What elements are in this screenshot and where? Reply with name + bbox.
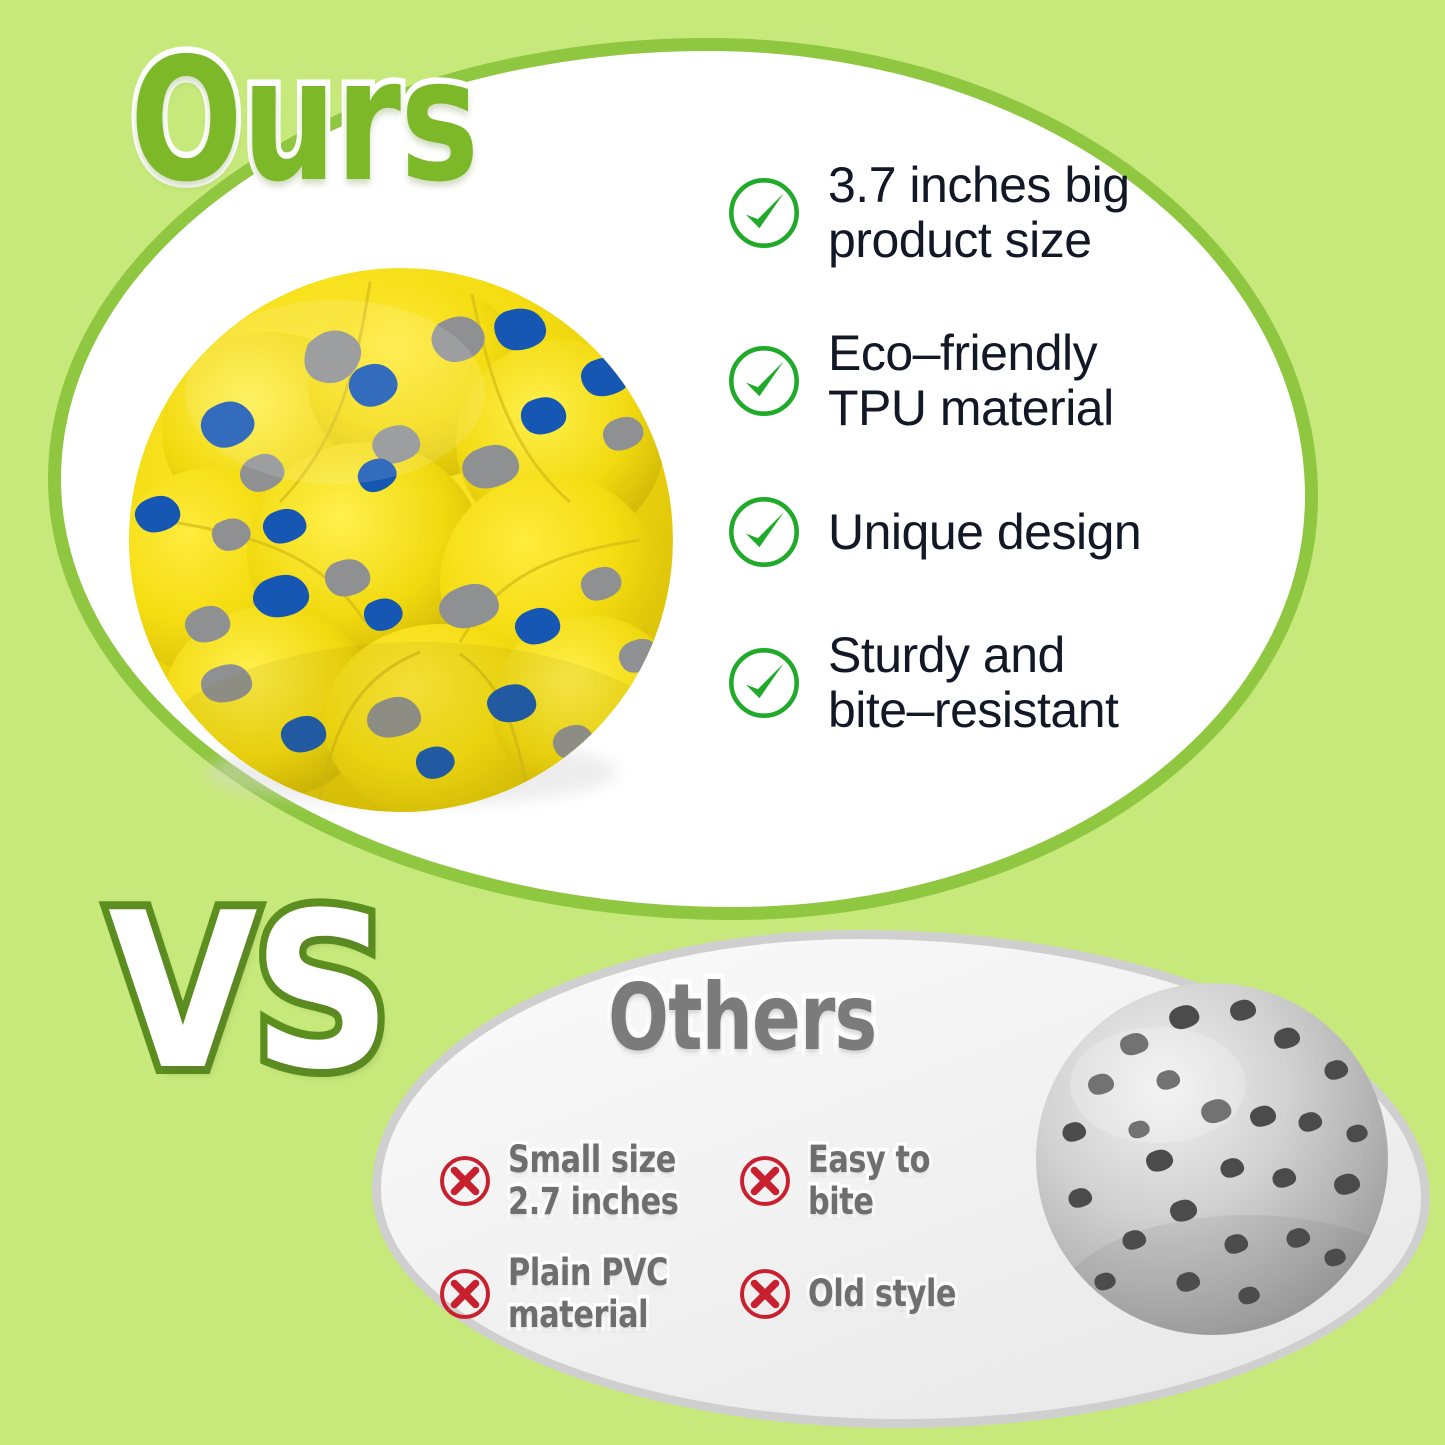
list-item-label: Eco–friendly TPU material <box>828 326 1114 436</box>
x-circle-icon <box>737 1153 793 1209</box>
vs-label: VS <box>108 884 386 1099</box>
others-cons-list: Small size 2.7 inches Easy to bite Plain… <box>437 1124 1017 1350</box>
comparison-infographic: Ours VS Others 3.7 inches big product si… <box>0 0 1445 1445</box>
x-circle-icon <box>437 1266 493 1322</box>
ours-feature-list: 3.7 inches big product size Eco–friendly… <box>726 158 1196 796</box>
list-item: 3.7 inches big product size <box>726 158 1196 268</box>
others-product-image <box>1028 975 1396 1343</box>
list-item-label: 3.7 inches big product size <box>828 158 1130 268</box>
list-item: Small size 2.7 inches <box>437 1124 737 1237</box>
ours-product-image <box>120 252 682 814</box>
check-circle-icon <box>726 645 802 721</box>
list-item: Plain PVC material <box>437 1237 737 1350</box>
list-item: Old style <box>737 1237 1017 1350</box>
list-item-label: Easy to bite <box>808 1139 979 1222</box>
list-item-label: Old style <box>808 1273 956 1314</box>
check-circle-icon <box>726 343 802 419</box>
ours-title: Ours <box>130 36 478 206</box>
list-item-label: Plain PVC material <box>508 1252 668 1335</box>
x-circle-icon <box>737 1266 793 1322</box>
list-item: Eco–friendly TPU material <box>726 326 1196 436</box>
list-item: Easy to bite <box>737 1124 1017 1237</box>
x-circle-icon <box>437 1153 493 1209</box>
list-item: Sturdy and bite–resistant <box>726 628 1196 738</box>
list-item-label: Unique design <box>828 505 1141 560</box>
list-item-label: Small size 2.7 inches <box>508 1139 678 1222</box>
others-title: Others <box>608 972 876 1064</box>
list-item: Unique design <box>726 494 1196 570</box>
list-item-label: Sturdy and bite–resistant <box>828 628 1118 738</box>
check-circle-icon <box>726 494 802 570</box>
check-circle-icon <box>726 175 802 251</box>
